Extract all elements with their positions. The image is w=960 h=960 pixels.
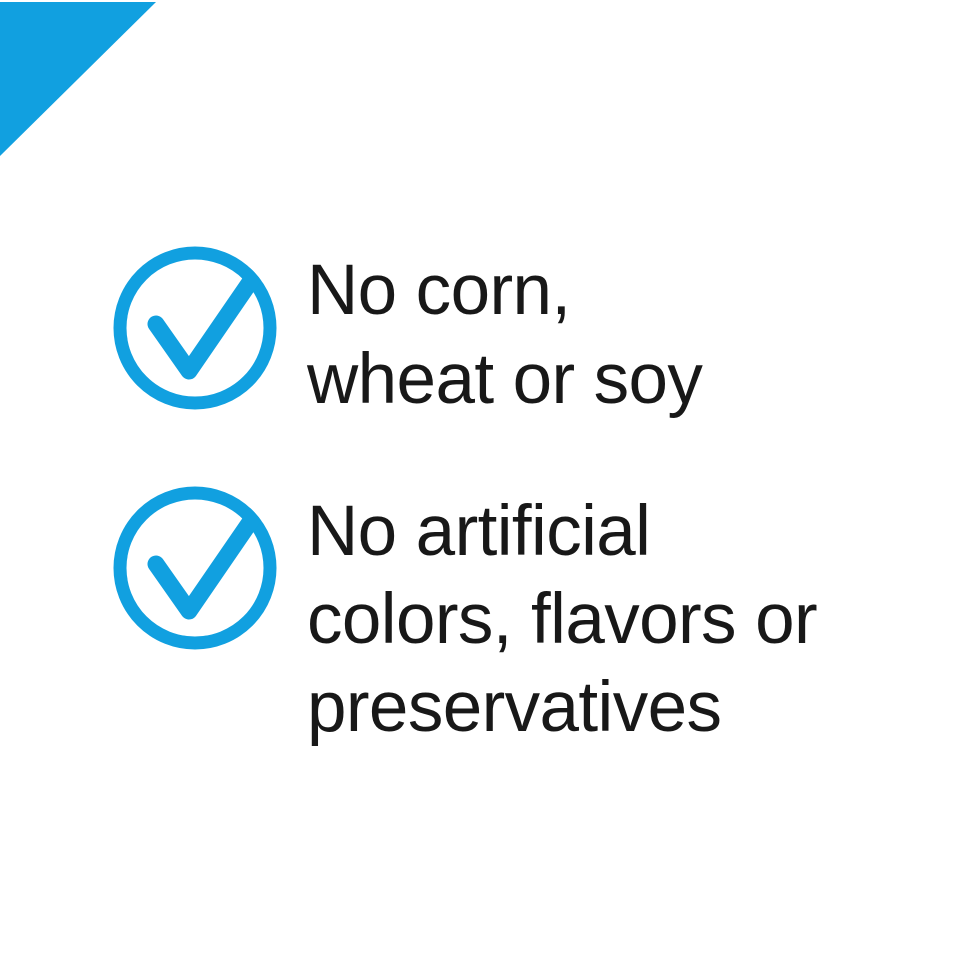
check-circle-icon — [105, 478, 285, 658]
feature-label: No corn, wheat or soy — [307, 238, 702, 424]
check-circle-icon — [105, 238, 285, 418]
feature-item-no-artificial-colors: No artificial colors, flavors or preserv… — [105, 478, 817, 752]
feature-item-no-corn-wheat-soy: No corn, wheat or soy — [105, 238, 702, 424]
feature-list: No corn, wheat or soy No artificial colo… — [0, 0, 960, 960]
product-claims-graphic: No corn, wheat or soy No artificial colo… — [0, 0, 960, 960]
feature-label: No artificial colors, flavors or preserv… — [307, 478, 817, 752]
